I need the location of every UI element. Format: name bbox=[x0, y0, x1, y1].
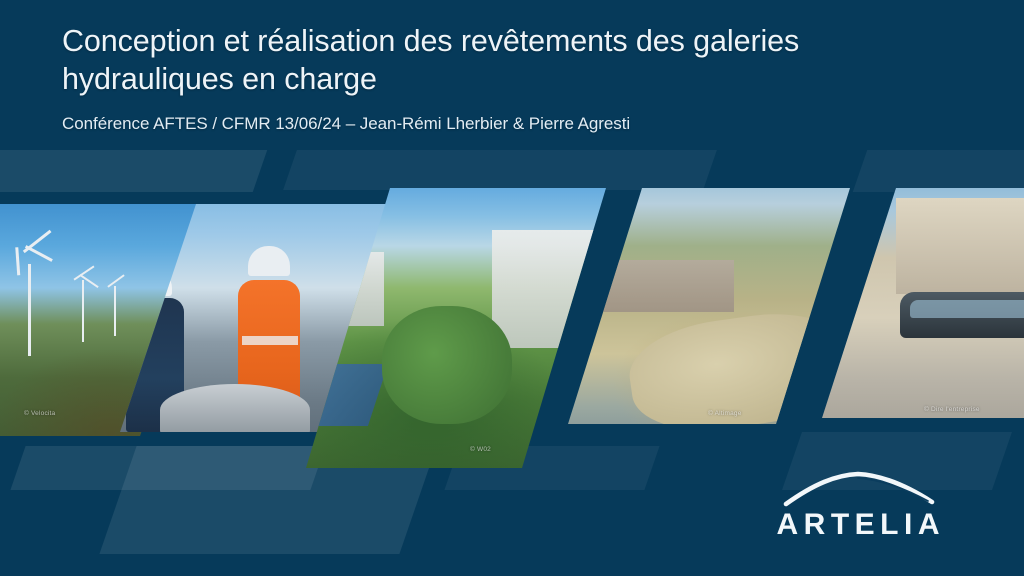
photo-credit: © Velocita bbox=[24, 410, 55, 417]
page-title: Conception et réalisation des revêtement… bbox=[62, 22, 902, 98]
photo-strip: © Velocita © W02 © Altimage bbox=[0, 168, 1024, 468]
artelia-logo: ARTELIA bbox=[770, 470, 946, 542]
artelia-wordmark: ARTELIA bbox=[770, 508, 946, 542]
artelia-arch-icon bbox=[770, 470, 946, 508]
photo-credit: © W02 bbox=[470, 446, 491, 453]
title-block: Conception et réalisation des revêtement… bbox=[62, 22, 902, 136]
photo-credit: © Dire l'entreprise bbox=[924, 406, 980, 413]
slide-subtitle: Conférence AFTES / CFMR 13/06/24 – Jean-… bbox=[62, 112, 902, 136]
presentation-slide: © Velocita © W02 © Altimage bbox=[0, 0, 1024, 576]
photo-credit: © Altimage bbox=[708, 410, 742, 417]
